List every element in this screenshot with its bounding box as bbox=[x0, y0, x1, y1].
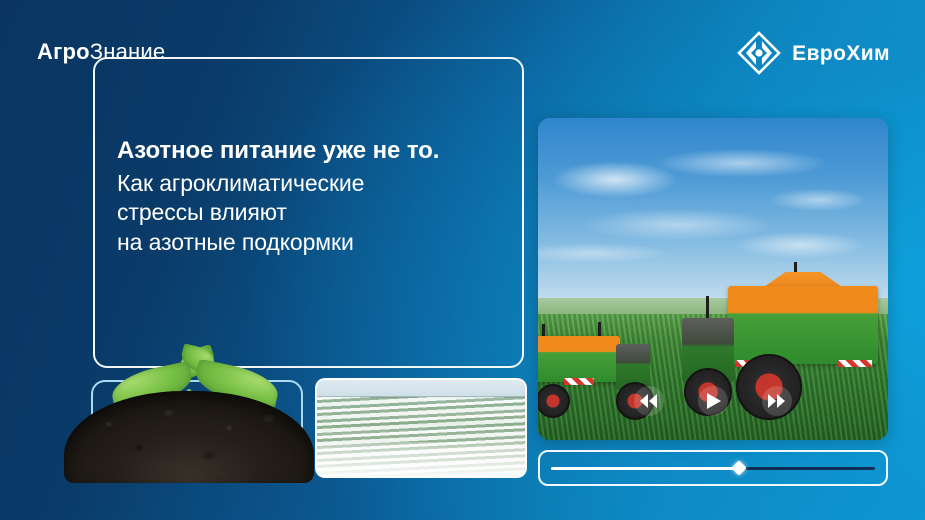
brand-logo: АгроЗнание bbox=[37, 41, 165, 63]
brand-suffix: Знание bbox=[90, 39, 166, 64]
soil-mound bbox=[64, 391, 314, 483]
winter-snow bbox=[317, 442, 525, 476]
progress-fill bbox=[551, 467, 739, 470]
spreader-hopper bbox=[728, 286, 878, 364]
warning-stripe bbox=[838, 360, 872, 367]
eurochem-wordmark: ЕвроХим bbox=[792, 43, 890, 64]
rewind-button[interactable] bbox=[634, 386, 664, 416]
eurochem-name-part1: Евро bbox=[792, 42, 846, 65]
progress-track[interactable] bbox=[551, 467, 875, 470]
title-line-4: на азотные подкормки bbox=[117, 228, 537, 257]
progress-handle[interactable] bbox=[731, 460, 747, 476]
video-player[interactable] bbox=[538, 118, 888, 440]
title-line-1: Азотное питание уже не то. bbox=[117, 136, 537, 167]
fast-forward-icon bbox=[768, 394, 786, 408]
rewind-icon bbox=[640, 394, 658, 408]
title-line-3: стрессы влияют bbox=[117, 198, 537, 227]
seedling-image bbox=[64, 311, 314, 483]
progress-remaining bbox=[739, 467, 875, 470]
winter-sky bbox=[317, 380, 525, 397]
play-button[interactable] bbox=[698, 386, 728, 416]
slide-canvas: АгроЗнание ЕвроХим Азотное питание уже н… bbox=[0, 0, 925, 520]
spreader-hopper bbox=[538, 336, 620, 382]
warning-stripe bbox=[564, 378, 594, 385]
eurochem-diamond-icon bbox=[737, 31, 781, 75]
play-icon bbox=[705, 393, 721, 409]
video-controls bbox=[538, 386, 888, 416]
video-progress-bar[interactable] bbox=[538, 450, 888, 486]
title-line-2: Как агроклиматические bbox=[117, 169, 537, 198]
eurochem-name-part2: Хим bbox=[846, 42, 890, 65]
brand-prefix: Агро bbox=[37, 39, 90, 64]
eurochem-logo: ЕвроХим bbox=[737, 31, 890, 75]
fast-forward-button[interactable] bbox=[762, 386, 792, 416]
winter-field-image bbox=[315, 378, 527, 478]
page-title: Азотное питание уже не то. Как агроклима… bbox=[117, 136, 537, 257]
